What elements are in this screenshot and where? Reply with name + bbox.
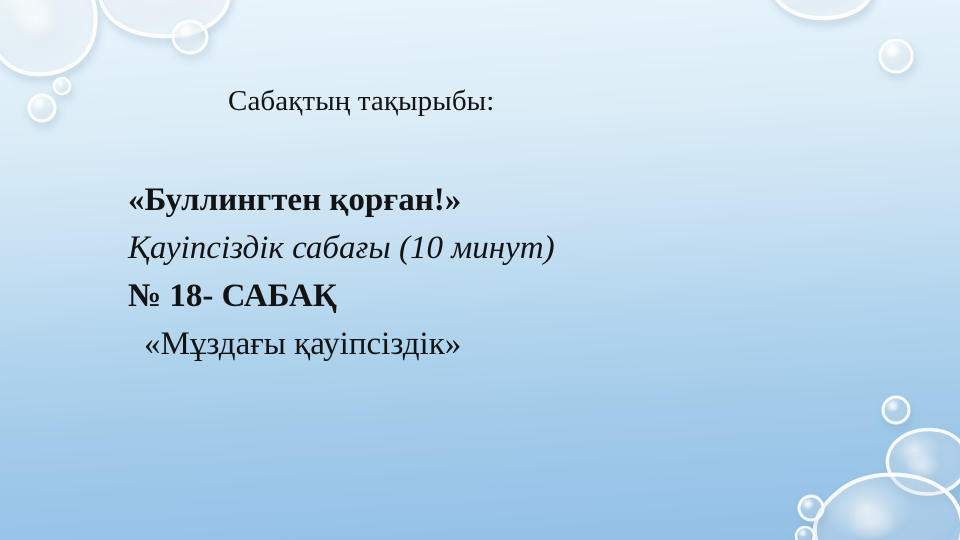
presentation-slide: Сабақтың тақырыбы: «Буллингтен қорған!» … xyxy=(0,0,960,540)
slide-text-layer: Сабақтың тақырыбы: «Буллингтен қорған!» … xyxy=(0,0,960,540)
slide-body-text-block: «Буллингтен қорған!» Қауіпсіздік сабағы … xyxy=(128,176,828,368)
body-line-lesson-number: № 18- САБАҚ xyxy=(128,272,828,320)
body-line-lesson-duration: Қауіпсіздік сабағы (10 минут) xyxy=(128,224,828,272)
body-line-lesson-subtopic: «Мұздағы қауіпсіздік» xyxy=(128,320,828,368)
body-line-lesson-theme: «Буллингтен қорған!» xyxy=(128,176,828,224)
slide-subtitle-label: Сабақтың тақырыбы: xyxy=(228,84,494,118)
